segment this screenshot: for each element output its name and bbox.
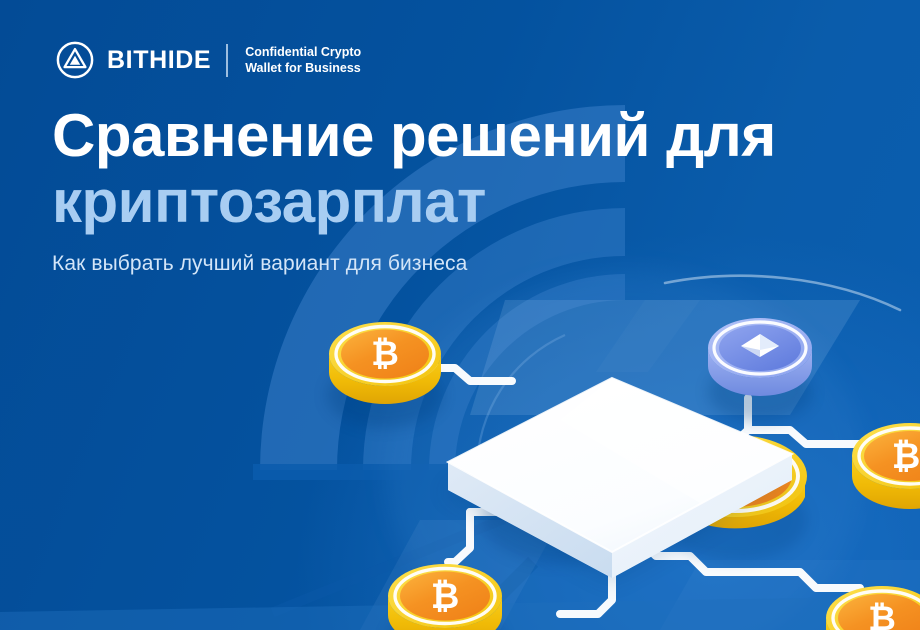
bitcoin-coin-top-left: ₿ <box>327 322 443 428</box>
headline-subtitle: Как выбрать лучший вариант для бизнеса <box>52 252 776 276</box>
headline-block: Сравнение решений для криптозарплат Как … <box>52 104 776 276</box>
brand-divider <box>226 44 228 77</box>
svg-text:₿: ₿ <box>431 577 460 616</box>
svg-text:₿: ₿ <box>892 437 920 476</box>
headline-line-2: криптозарплат <box>52 170 776 234</box>
brand-tagline-line1: Confidential Crypto <box>245 45 361 59</box>
brand-tagline-line2: Wallet for Business <box>245 61 361 75</box>
bithide-triangle-circle-icon <box>56 41 94 79</box>
promo-banner: ₿ ₿ <box>0 0 920 630</box>
ethereum-coin-top-right <box>708 318 812 422</box>
headline-line-1: Сравнение решений для <box>52 104 776 168</box>
brand-tagline: Confidential Crypto Wallet for Business <box>245 44 361 77</box>
brand-name: BITHIDE <box>107 48 211 73</box>
bitcoin-coin-bottom-center: ₿ <box>387 564 503 630</box>
page-title: Сравнение решений для криптозарплат <box>52 104 776 233</box>
crypto-illustration: ₿ ₿ <box>0 0 920 630</box>
brand-lockup[interactable]: BITHIDE Confidential Crypto Wallet for B… <box>56 41 361 79</box>
svg-text:₿: ₿ <box>868 600 896 630</box>
svg-text:₿: ₿ <box>371 335 399 373</box>
